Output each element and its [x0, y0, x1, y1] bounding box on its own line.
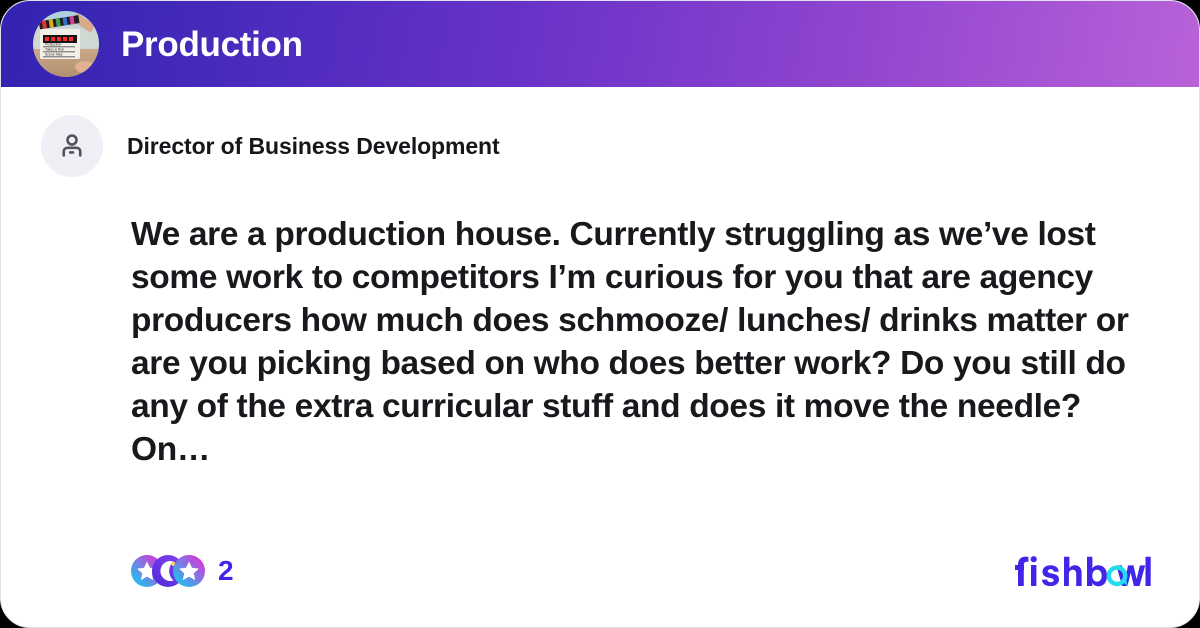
author-avatar[interactable] — [41, 115, 103, 177]
card-header: Production Takes & Run Scene Take Produc… — [1, 1, 1199, 87]
fishbowl-wordmark-icon — [1009, 548, 1151, 594]
post-card: Production Takes & Run Scene Take Produc… — [0, 0, 1200, 628]
reaction-icon-stack[interactable] — [131, 555, 205, 587]
card-footer: 2 — [1, 539, 1199, 603]
author-title: Director of Business Development — [127, 133, 500, 160]
fishbowl-logo — [1009, 548, 1151, 594]
author-row: Director of Business Development — [1, 87, 1199, 177]
svg-text:Scene Take: Scene Take — [45, 53, 63, 57]
bowl-avatar[interactable]: Production Takes & Run Scene Take — [33, 11, 99, 77]
post-body-text: We are a production house. Currently str… — [131, 213, 1147, 471]
svg-text:Production: Production — [45, 43, 61, 47]
star-reaction-icon[interactable] — [173, 555, 205, 587]
reactions-group[interactable]: 2 — [131, 555, 234, 587]
reaction-count: 2 — [218, 557, 234, 585]
card-body: Director of Business Development We are … — [1, 87, 1199, 628]
clapperboard-photo-icon: Production Takes & Run Scene Take — [33, 11, 99, 77]
svg-text:Takes & Run: Takes & Run — [45, 48, 64, 52]
person-icon — [57, 131, 87, 161]
bowl-title: Production — [121, 27, 303, 62]
